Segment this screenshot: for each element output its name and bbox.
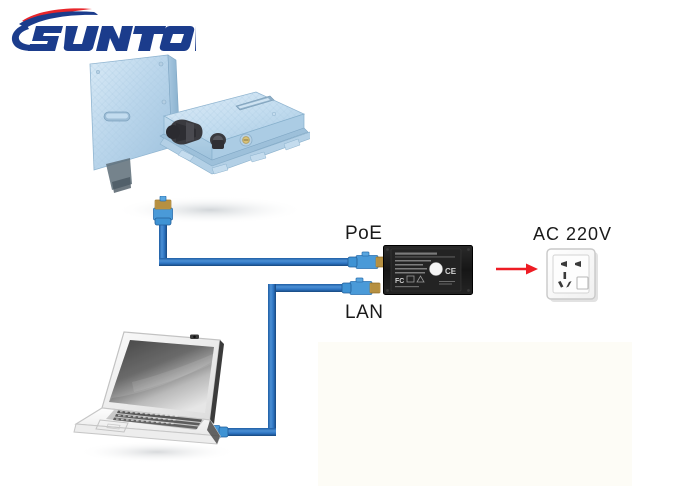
radio-ground-screw xyxy=(240,134,252,146)
label-poe: PoE xyxy=(345,223,382,245)
rj45-plug-radio-end xyxy=(154,196,173,225)
suntor-logo xyxy=(6,8,196,54)
power-arrow-icon xyxy=(496,262,542,281)
rj45-plug-lan-end xyxy=(342,278,380,295)
ac-wall-socket xyxy=(546,247,602,310)
label-lan: LAN xyxy=(345,302,383,324)
laptop-computer xyxy=(62,320,252,475)
label-ac-220v: AC 220V xyxy=(533,224,612,245)
radio-main-enclosure xyxy=(160,92,310,174)
poe-injector-adapter: FC CE xyxy=(383,245,473,300)
svg-text:FC: FC xyxy=(395,278,404,285)
svg-text:CE: CE xyxy=(445,267,457,276)
diagram-canvas: FC CE xyxy=(0,0,700,500)
radio-small-connector xyxy=(210,133,226,149)
rj45-plug-poe-end xyxy=(348,252,386,269)
